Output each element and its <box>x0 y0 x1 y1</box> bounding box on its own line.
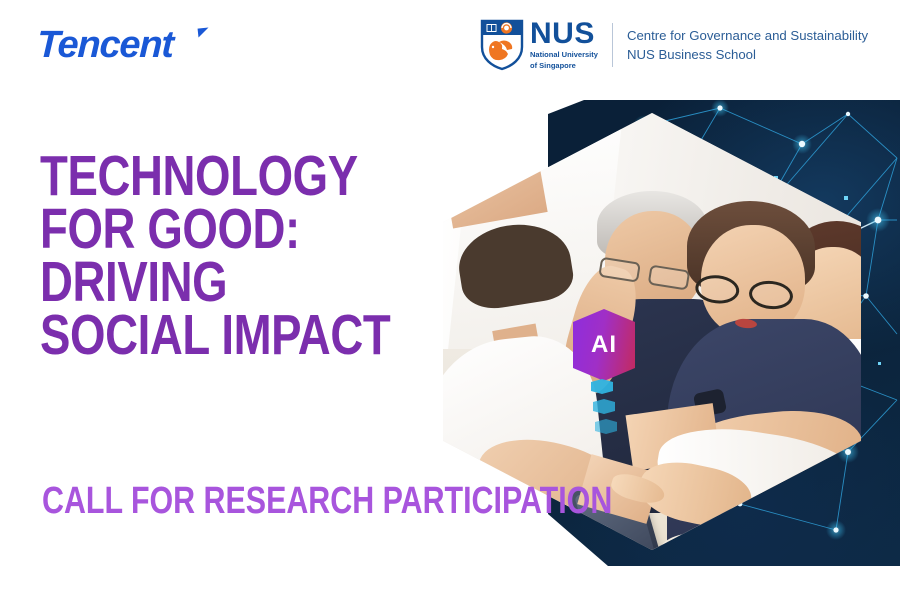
poster-canvas: AI TECHNOLOGY FOR GOOD: DRIVING SOCIAL I… <box>0 0 900 600</box>
tencent-logo-tick-icon <box>198 27 210 37</box>
tencent-logo[interactable]: Tencent <box>36 26 173 64</box>
hero-subtitle: CALL FOR RESEARCH PARTICIPATION <box>42 482 612 520</box>
tencent-logo-text: Tencent <box>36 24 173 66</box>
nus-wordmark: NUS National University of Singapore <box>530 20 598 71</box>
hero-title-line-2: FOR GOOD: <box>40 203 376 256</box>
nus-acronym: NUS <box>530 20 598 49</box>
hero-title-line-4: SOCIAL IMPACT <box>40 309 376 362</box>
ai-badge: AI <box>573 309 637 381</box>
nus-subtitle-line-2: of Singapore <box>530 61 598 70</box>
nus-logo-lockup[interactable]: NUS National University of Singapore Cen… <box>480 19 868 71</box>
nus-centre-name: Centre for Governance and Sustainability… <box>627 26 868 64</box>
hero-title-line-1: TECHNOLOGY <box>40 150 376 203</box>
hero-title: TECHNOLOGY FOR GOOD: DRIVING SOCIAL IMPA… <box>40 150 460 362</box>
hero-title-line-3: DRIVING <box>40 256 376 309</box>
header-bar: Tencent NUS National University of Sin <box>0 0 900 95</box>
nus-logo-divider <box>612 23 613 67</box>
bottom-white-strip <box>0 566 900 600</box>
ai-hexagon-icon: AI <box>573 309 635 381</box>
ai-badge-trail-icon <box>591 379 617 439</box>
nus-centre-line-1: Centre for Governance and Sustainability <box>627 26 868 45</box>
ai-badge-label: AI <box>591 331 617 359</box>
nus-crest-icon <box>480 19 524 71</box>
nus-centre-line-2: NUS Business School <box>627 45 868 64</box>
nus-subtitle-line-1: National University <box>530 50 598 59</box>
